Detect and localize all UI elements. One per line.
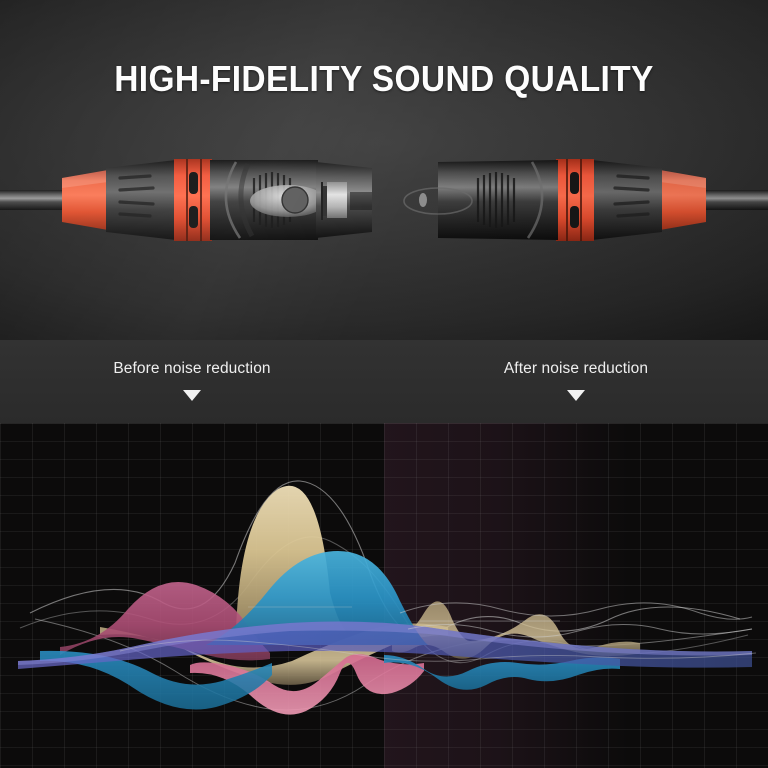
hero-section: HIGH-FIDELITY SOUND QUALITY [0, 0, 768, 340]
waveform-visualization [0, 423, 768, 768]
before-label-column: Before noise reduction [0, 340, 384, 423]
comparison-label-band: Before noise reduction After noise reduc… [0, 340, 768, 423]
after-noise-reduction-label: After noise reduction [384, 360, 768, 378]
connector-illustration [0, 130, 768, 280]
before-noise-reduction-label: Before noise reduction [0, 360, 384, 378]
waveform-svg [0, 423, 768, 768]
triangle-down-icon [567, 390, 585, 401]
triangle-down-icon [183, 390, 201, 401]
left-xlr-connector [0, 159, 372, 241]
page-title: HIGH-FIDELITY SOUND QUALITY [27, 58, 741, 100]
right-xlr-connector [404, 159, 768, 241]
connector-svg [0, 130, 768, 280]
product-feature-page: HIGH-FIDELITY SOUND QUALITY Before noise… [0, 0, 768, 768]
after-label-column: After noise reduction [384, 340, 768, 423]
